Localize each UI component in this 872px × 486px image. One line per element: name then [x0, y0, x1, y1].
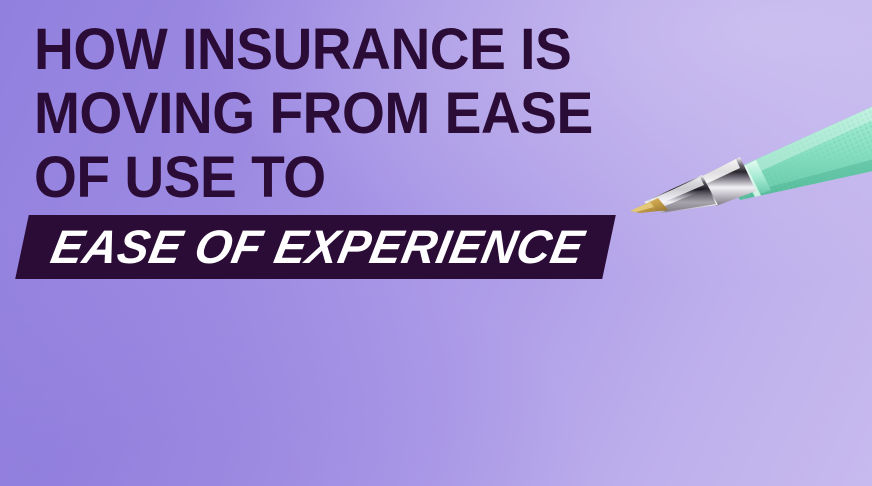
headline-line-1: HOW INSURANCE IS: [34, 18, 699, 82]
headline-line-3: OF USE TO: [34, 146, 699, 210]
pen-barrel: [724, 98, 872, 208]
page-title: HOW INSURANCE IS MOVING FROM EASE OF USE…: [34, 18, 734, 210]
headline-line-2: MOVING FROM EASE: [34, 82, 699, 146]
highlight-band-label: EASE OF EXPERIENCE: [46, 215, 590, 279]
highlight-band: EASE OF EXPERIENCE: [15, 215, 616, 279]
promo-banner: HOW INSURANCE IS MOVING FROM EASE OF USE…: [0, 0, 872, 486]
